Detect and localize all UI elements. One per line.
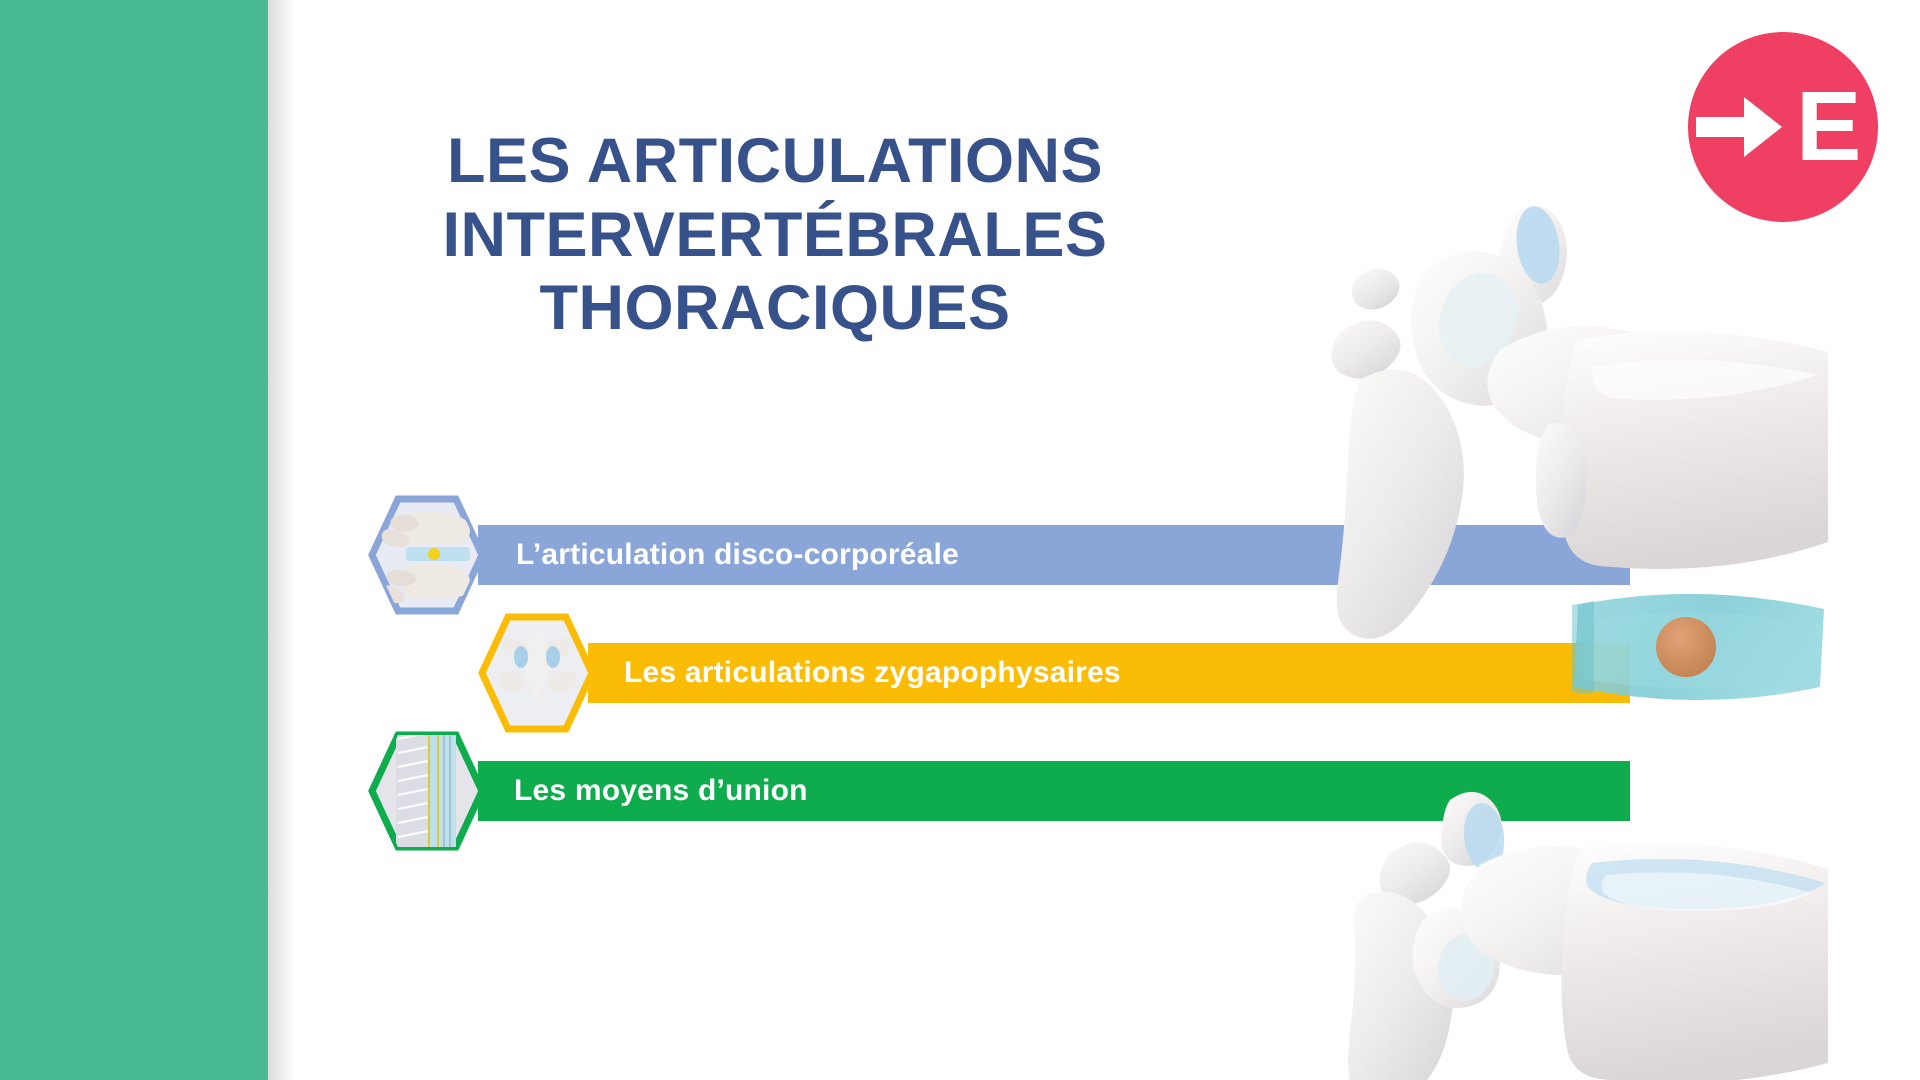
topic-label: Les moyens d’union <box>478 774 808 808</box>
upper-thoracic-vertebra <box>1331 203 1828 638</box>
sidebar <box>0 0 268 1080</box>
zygapophyseal-joints-hex-icon <box>478 613 596 733</box>
status-badge: E <box>1688 32 1878 222</box>
topic-label: L’articulation disco-corporéale <box>478 538 959 572</box>
arrow-right-icon <box>1696 97 1782 157</box>
page-title: LES ARTICULATIONS INTERVERTÉBRALES THORA… <box>330 125 1220 346</box>
intervertebral-disc <box>1572 594 1824 700</box>
title-line-1: LES ARTICULATIONS <box>330 125 1220 199</box>
thoracic-vertebrae-illustration <box>1330 175 1920 1080</box>
svg-text:E: E <box>1796 71 1861 181</box>
title-line-3: THORACIQUES <box>330 272 1220 346</box>
vertebrae-disc-hex-icon <box>368 495 486 615</box>
title-line-2: INTERVERTÉBRALES <box>330 199 1220 273</box>
slide-root: SCHOOLAPY ® ARTHROLOGIE LES ARTICULATION… <box>0 0 1920 1080</box>
lower-thoracic-vertebra <box>1348 792 1828 1080</box>
sidebar-shadow <box>268 0 294 1080</box>
topic-label: Les articulations zygapophysaires <box>588 656 1121 690</box>
spine-ligaments-hex-icon <box>368 731 486 851</box>
